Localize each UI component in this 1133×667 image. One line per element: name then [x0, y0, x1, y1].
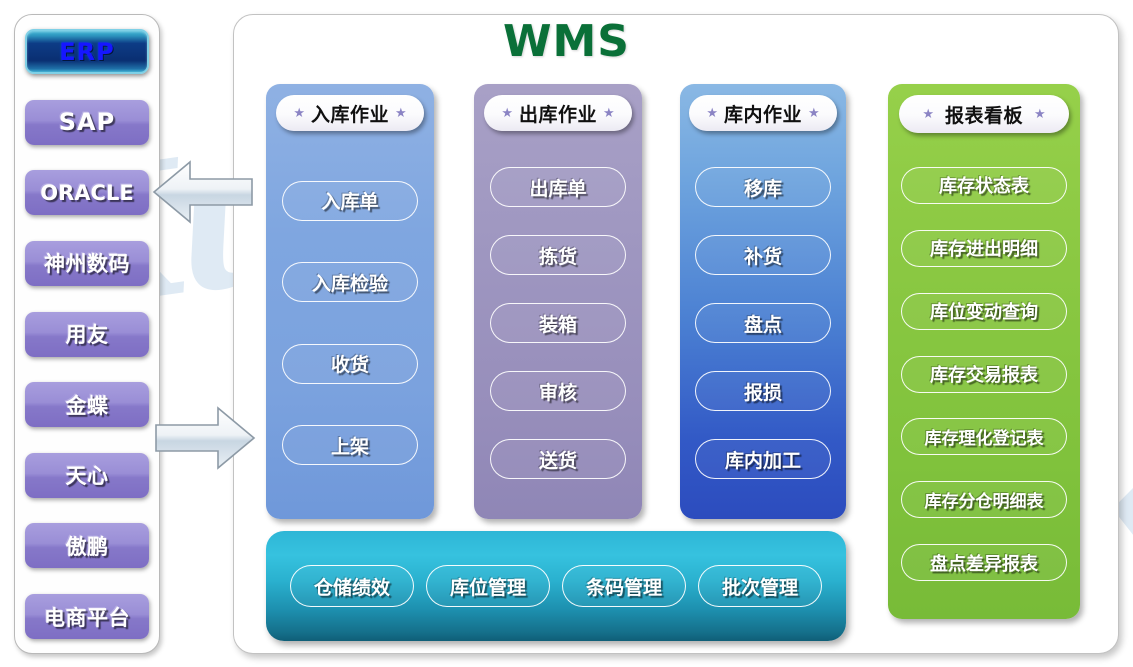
menu-item[interactable]: 库存理化登记表 — [901, 418, 1067, 455]
erp-item-label: 用友 — [66, 319, 109, 349]
menu-item[interactable]: 盘点差异报表 — [901, 544, 1067, 581]
menu-item-label: 盘点 — [744, 310, 782, 337]
menu-item-label: 报损 — [744, 378, 782, 405]
menu-item[interactable]: 补货 — [695, 235, 831, 275]
bottom-bar-button[interactable]: 仓储绩效 — [290, 565, 414, 607]
column-item-list: 库存状态表库存进出明细库位变动查询库存交易报表库存理化登记表库存分仓明细表盘点差… — [888, 137, 1080, 619]
erp-item-label: SAP — [59, 108, 115, 136]
menu-item[interactable]: 盘点 — [695, 303, 831, 343]
bottom-bar-button-label: 条码管理 — [586, 573, 662, 600]
menu-item-label: 库存理化登记表 — [925, 424, 1044, 449]
erp-item-电商平台[interactable]: 电商平台 — [25, 594, 149, 639]
menu-item-label: 盘点差异报表 — [930, 550, 1038, 576]
menu-item[interactable]: 库存进出明细 — [901, 230, 1067, 267]
menu-item[interactable]: 库位变动查询 — [901, 293, 1067, 330]
menu-item-label: 库存分仓明细表 — [925, 487, 1044, 512]
column-header-label: 入库作业 — [311, 100, 389, 127]
column-outbound: ★出库作业★出库单拣货装箱审核送货 — [474, 84, 642, 519]
erp-item-金蝶[interactable]: 金蝶 — [25, 382, 149, 427]
warehouse-management-bar: 仓储绩效库位管理条码管理批次管理 — [266, 531, 846, 641]
erp-item-label: 神州数码 — [44, 248, 130, 278]
bottom-bar-button-label: 仓储绩效 — [314, 573, 390, 600]
menu-item[interactable]: 收货 — [282, 344, 418, 384]
column-item-list: 入库单入库检验收货上架 — [266, 135, 434, 519]
erp-item-傲鹏[interactable]: 傲鹏 — [25, 523, 149, 568]
erp-item-label: 天心 — [66, 460, 109, 490]
menu-item-label: 拣货 — [539, 242, 577, 269]
erp-item-用友[interactable]: 用友 — [25, 312, 149, 357]
menu-item[interactable]: 库存交易报表 — [901, 356, 1067, 393]
erp-item-神州数码[interactable]: 神州数码 — [25, 241, 149, 286]
column-internal: ★库内作业★移库补货盘点报损库内加工 — [680, 84, 846, 519]
star-icon: ★ — [293, 107, 305, 120]
menu-item-label: 入库检验 — [312, 269, 388, 296]
menu-item[interactable]: 拣货 — [490, 235, 626, 275]
menu-item[interactable]: 库存状态表 — [901, 167, 1067, 204]
erp-item-label: ORACLE — [40, 181, 133, 205]
menu-item-label: 库存进出明细 — [930, 235, 1038, 261]
column-header-label: 出库作业 — [519, 100, 597, 127]
star-icon: ★ — [501, 107, 513, 120]
wms-architecture-diagram: Kuck Kuck Kuck ERPSAPORACLE神州数码用友金蝶天心傲鹏电… — [0, 0, 1133, 667]
menu-item-label: 库存交易报表 — [930, 361, 1038, 387]
star-icon: ★ — [603, 107, 615, 120]
erp-systems-panel: ERPSAPORACLE神州数码用友金蝶天心傲鹏电商平台 — [14, 14, 160, 654]
column-header-internal[interactable]: ★库内作业★ — [689, 95, 837, 131]
page-title: WMS — [0, 16, 1133, 67]
menu-item-label: 库位变动查询 — [930, 298, 1038, 324]
erp-item-label: 傲鹏 — [66, 531, 109, 561]
menu-item-label: 装箱 — [539, 310, 577, 337]
star-icon: ★ — [706, 107, 718, 120]
menu-item[interactable]: 上架 — [282, 425, 418, 465]
menu-item[interactable]: 库内加工 — [695, 439, 831, 479]
bottom-bar-button-label: 库位管理 — [450, 573, 526, 600]
menu-item-label: 送货 — [539, 446, 577, 473]
star-icon: ★ — [808, 107, 820, 120]
menu-item[interactable]: 送货 — [490, 439, 626, 479]
column-header-outbound[interactable]: ★出库作业★ — [484, 95, 632, 131]
star-icon: ★ — [922, 108, 934, 121]
menu-item[interactable]: 装箱 — [490, 303, 626, 343]
menu-item[interactable]: 入库检验 — [282, 262, 418, 302]
bottom-bar-button[interactable]: 库位管理 — [426, 565, 550, 607]
arrow-left-icon — [152, 158, 254, 226]
column-header-report[interactable]: ★报表看板★ — [899, 95, 1069, 133]
column-inbound: ★入库作业★入库单入库检验收货上架 — [266, 84, 434, 519]
bottom-bar-button-label: 批次管理 — [722, 573, 798, 600]
menu-item-label: 上架 — [331, 432, 369, 459]
column-header-label: 库内作业 — [724, 100, 802, 127]
menu-item[interactable]: 审核 — [490, 371, 626, 411]
menu-item[interactable]: 报损 — [695, 371, 831, 411]
erp-item-天心[interactable]: 天心 — [25, 453, 149, 498]
bottom-bar-button[interactable]: 批次管理 — [698, 565, 822, 607]
erp-item-label: 电商平台 — [44, 602, 130, 632]
arrow-right-icon — [154, 404, 256, 472]
column-item-list: 出库单拣货装箱审核送货 — [474, 135, 642, 519]
bottom-bar-button[interactable]: 条码管理 — [562, 565, 686, 607]
menu-item[interactable]: 移库 — [695, 167, 831, 207]
star-icon: ★ — [395, 107, 407, 120]
menu-item-label: 库内加工 — [725, 446, 801, 473]
column-item-list: 移库补货盘点报损库内加工 — [680, 135, 846, 519]
column-header-inbound[interactable]: ★入库作业★ — [276, 95, 424, 131]
column-header-label: 报表看板 — [945, 101, 1023, 128]
menu-item[interactable]: 出库单 — [490, 167, 626, 207]
erp-item-oracle[interactable]: ORACLE — [25, 170, 149, 215]
star-icon: ★ — [1034, 108, 1046, 121]
menu-item[interactable]: 库存分仓明细表 — [901, 481, 1067, 518]
menu-item-label: 库存状态表 — [939, 172, 1029, 198]
menu-item-label: 审核 — [539, 378, 577, 405]
menu-item[interactable]: 入库单 — [282, 181, 418, 221]
menu-item-label: 补货 — [744, 242, 782, 269]
menu-item-label: 出库单 — [529, 174, 586, 201]
column-report: ★报表看板★库存状态表库存进出明细库位变动查询库存交易报表库存理化登记表库存分仓… — [888, 84, 1080, 619]
menu-item-label: 入库单 — [321, 187, 378, 214]
menu-item-label: 收货 — [331, 350, 369, 377]
menu-item-label: 移库 — [744, 174, 782, 201]
erp-item-sap[interactable]: SAP — [25, 100, 149, 145]
erp-item-label: 金蝶 — [66, 390, 109, 420]
